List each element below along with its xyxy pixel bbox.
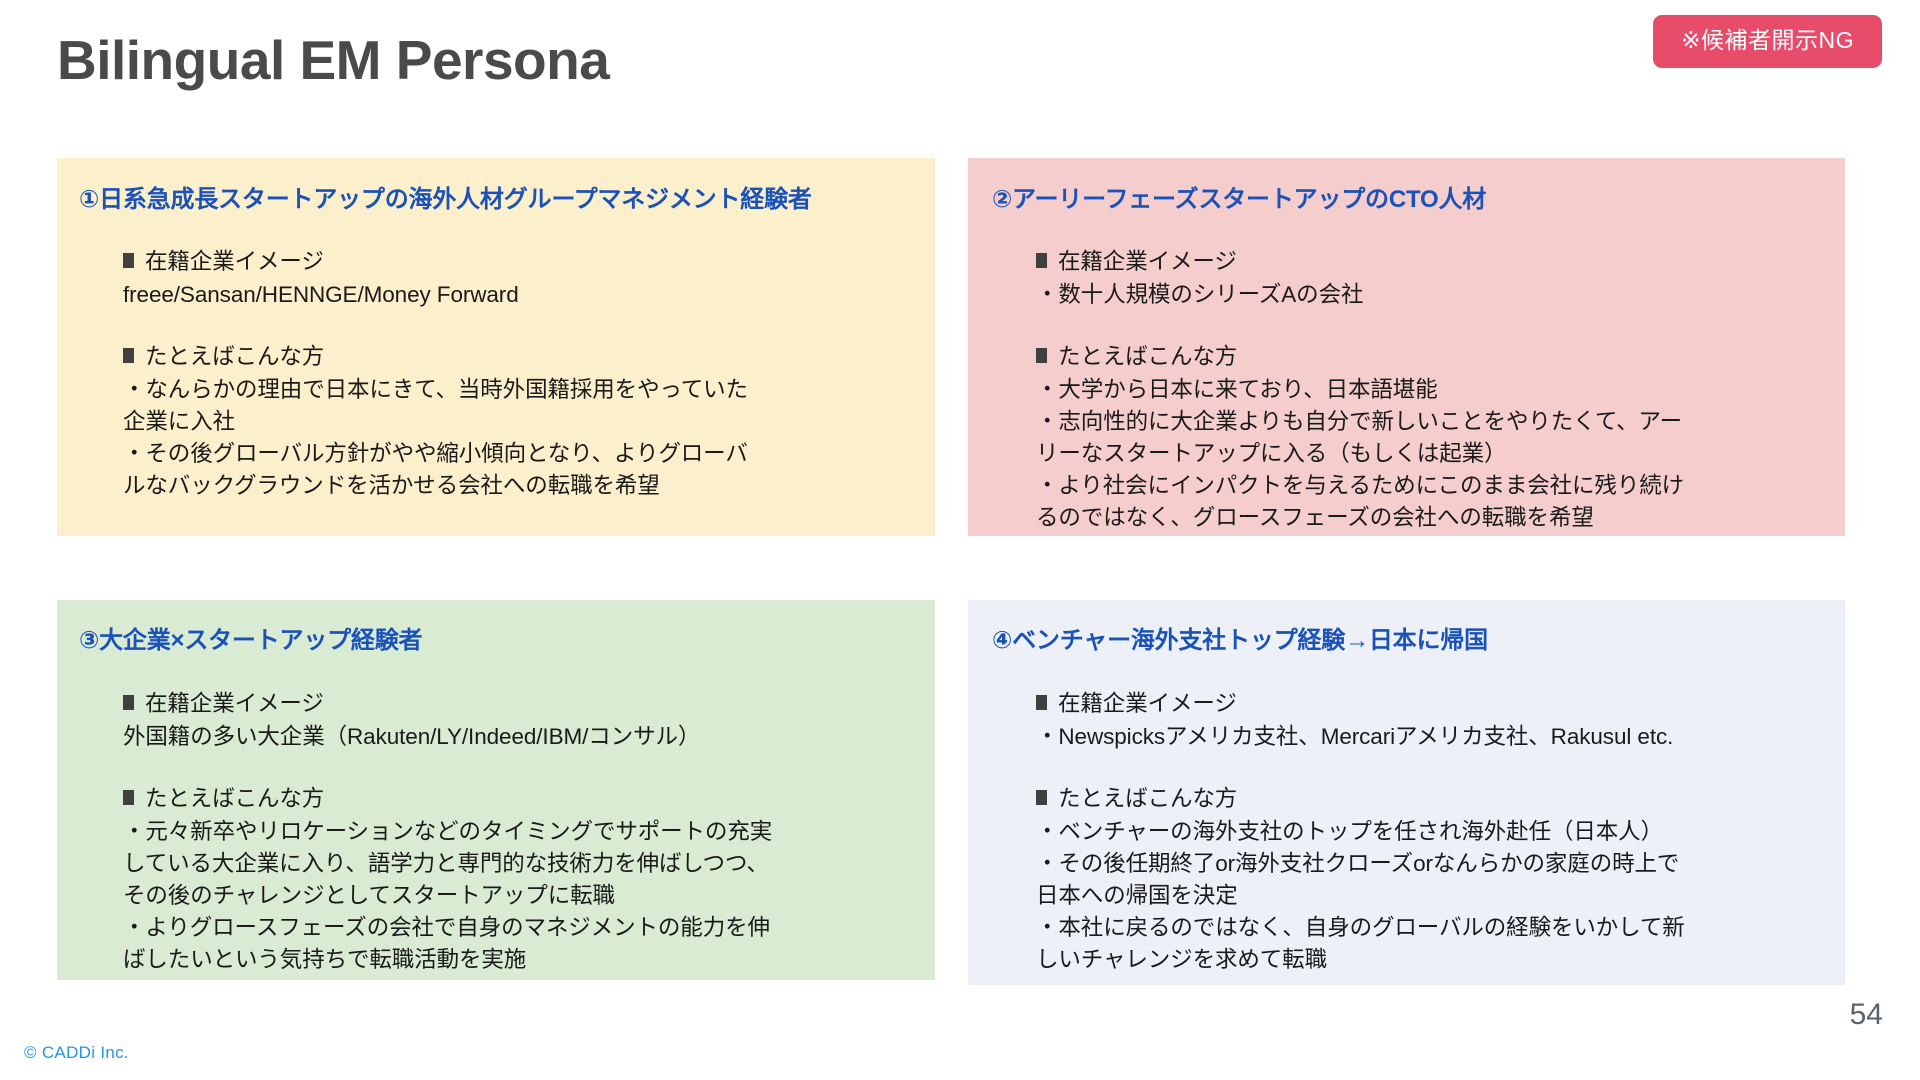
- persona-text-line: ・志向性的に大企業よりも自分で新しいことをやりたくて、アー: [1036, 406, 1829, 438]
- persona-block-heading-label: 在籍企業イメージ: [1058, 691, 1237, 716]
- square-bullet-icon: [1036, 253, 1047, 268]
- page-number: 54: [1850, 1000, 1883, 1030]
- persona-block-heading: 在籍企業イメージ: [123, 246, 919, 278]
- persona-text-line: ・よりグロースフェーズの会社で自身のマネジメントの能力を伸: [123, 912, 919, 944]
- slide-root: Bilingual EM Persona ※候補者開示NG ①日系急成長スタート…: [0, 0, 1920, 1080]
- persona-block: 在籍企業イメージ・Newspicksアメリカ支社、Mercariアメリカ支社、R…: [1036, 688, 1835, 753]
- persona-block: 在籍企業イメージ・数十人規模のシリーズAの会社: [1036, 246, 1829, 311]
- persona-card-3-body: 在籍企業イメージ外国籍の多い大企業（Rakuten/LY/Indeed/IBM/…: [123, 688, 919, 976]
- persona-text-line: 日本への帰国を決定: [1036, 880, 1835, 912]
- persona-block: たとえばこんな方・元々新卒やリロケーションなどのタイミングでサポートの充実してい…: [123, 783, 919, 976]
- persona-text-line: している大企業に入り、語学力と専門的な技術力を伸ばしつつ、: [123, 848, 919, 880]
- persona-text-line: ・Newspicksアメリカ支社、Mercariアメリカ支社、Rakusul e…: [1036, 721, 1835, 753]
- persona-text-line: ・その後グローバル方針がやや縮小傾向となり、よりグローバ: [123, 438, 919, 470]
- persona-block-heading-label: たとえばこんな方: [145, 786, 324, 811]
- square-bullet-icon: [1036, 695, 1047, 710]
- persona-block-heading-label: たとえばこんな方: [1058, 786, 1237, 811]
- persona-text-line: ・数十人規模のシリーズAの会社: [1036, 279, 1829, 311]
- persona-text-line: その後のチャレンジとしてスタートアップに転職: [123, 880, 919, 912]
- persona-card-3-title: ③大企業×スタートアップ経験者: [79, 627, 422, 656]
- persona-card-2-body: 在籍企業イメージ・数十人規模のシリーズAの会社たとえばこんな方・大学から日本に来…: [1036, 246, 1829, 534]
- persona-block-heading-label: 在籍企業イメージ: [145, 691, 324, 716]
- persona-text-line: ・ベンチャーの海外支社のトップを任され海外赴任（日本人）: [1036, 816, 1835, 848]
- persona-card-2: ②アーリーフェーズスタートアップのCTO人材 在籍企業イメージ・数十人規模のシリ…: [968, 158, 1845, 536]
- persona-block-heading: 在籍企業イメージ: [1036, 246, 1829, 278]
- page-title: Bilingual EM Persona: [57, 29, 609, 92]
- copyright-notice: © CADDi Inc.: [24, 1044, 129, 1061]
- persona-text-line: ルなバックグラウンドを活かせる会社への転職を希望: [123, 470, 919, 502]
- persona-block-heading-label: 在籍企業イメージ: [1058, 249, 1237, 274]
- persona-text-line: るのではなく、グロースフェーズの会社への転職を希望: [1036, 502, 1829, 534]
- persona-block-heading-label: たとえばこんな方: [145, 344, 324, 369]
- persona-card-3: ③大企業×スタートアップ経験者 在籍企業イメージ外国籍の多い大企業（Rakute…: [57, 600, 935, 980]
- persona-block: たとえばこんな方・大学から日本に来ており、日本語堪能・志向性的に大企業よりも自分…: [1036, 341, 1829, 534]
- square-bullet-icon: [123, 253, 134, 268]
- persona-card-4-title: ④ベンチャー海外支社トップ経験→日本に帰国: [992, 627, 1488, 656]
- square-bullet-icon: [123, 695, 134, 710]
- persona-text-line: ・その後任期終了or海外支社クローズorなんらかの家庭の時上で: [1036, 848, 1835, 880]
- persona-card-2-title: ②アーリーフェーズスタートアップのCTO人材: [992, 186, 1486, 215]
- persona-block-heading: たとえばこんな方: [1036, 341, 1829, 373]
- persona-block-heading: たとえばこんな方: [1036, 783, 1835, 815]
- persona-card-1: ①日系急成長スタートアップの海外人材グループマネジメント経験者 在籍企業イメージ…: [57, 158, 935, 536]
- persona-card-4: ④ベンチャー海外支社トップ経験→日本に帰国 在籍企業イメージ・Newspicks…: [968, 600, 1845, 985]
- persona-block: 在籍企業イメージfreee/Sansan/HENNGE/Money Forwar…: [123, 246, 919, 311]
- persona-block: たとえばこんな方・なんらかの理由で日本にきて、当時外国籍採用をやっていた企業に入…: [123, 341, 919, 502]
- persona-text-line: ・元々新卒やリロケーションなどのタイミングでサポートの充実: [123, 816, 919, 848]
- square-bullet-icon: [123, 790, 134, 805]
- persona-text-line: ・本社に戻るのではなく、自身のグローバルの経験をいかして新: [1036, 912, 1835, 944]
- persona-text-line: 外国籍の多い大企業（Rakuten/LY/Indeed/IBM/コンサル）: [123, 721, 919, 753]
- persona-block-heading-label: たとえばこんな方: [1058, 344, 1237, 369]
- persona-text-line: しいチャレンジを求めて転職: [1036, 944, 1835, 976]
- persona-card-1-title: ①日系急成長スタートアップの海外人材グループマネジメント経験者: [79, 186, 812, 215]
- persona-card-1-body: 在籍企業イメージfreee/Sansan/HENNGE/Money Forwar…: [123, 246, 919, 502]
- persona-block-heading-label: 在籍企業イメージ: [145, 249, 324, 274]
- status-badge-disclosure-ng: ※候補者開示NG: [1653, 15, 1882, 68]
- persona-text-line: freee/Sansan/HENNGE/Money Forward: [123, 279, 919, 311]
- persona-text-line: リーなスタートアップに入る（もしくは起業）: [1036, 438, 1829, 470]
- square-bullet-icon: [123, 348, 134, 363]
- persona-text-line: ・大学から日本に来ており、日本語堪能: [1036, 374, 1829, 406]
- persona-text-line: ・なんらかの理由で日本にきて、当時外国籍採用をやっていた: [123, 374, 919, 406]
- square-bullet-icon: [1036, 348, 1047, 363]
- square-bullet-icon: [1036, 790, 1047, 805]
- persona-block-heading: 在籍企業イメージ: [123, 688, 919, 720]
- persona-block: 在籍企業イメージ外国籍の多い大企業（Rakuten/LY/Indeed/IBM/…: [123, 688, 919, 753]
- persona-block-heading: たとえばこんな方: [123, 783, 919, 815]
- persona-block-heading: 在籍企業イメージ: [1036, 688, 1835, 720]
- persona-text-line: ばしたいという気持ちで転職活動を実施: [123, 944, 919, 976]
- persona-block: たとえばこんな方・ベンチャーの海外支社のトップを任され海外赴任（日本人）・その後…: [1036, 783, 1835, 976]
- persona-block-heading: たとえばこんな方: [123, 341, 919, 373]
- persona-text-line: 企業に入社: [123, 406, 919, 438]
- persona-text-line: ・より社会にインパクトを与えるためにこのまま会社に残り続け: [1036, 470, 1829, 502]
- persona-card-4-body: 在籍企業イメージ・Newspicksアメリカ支社、Mercariアメリカ支社、R…: [1036, 688, 1835, 976]
